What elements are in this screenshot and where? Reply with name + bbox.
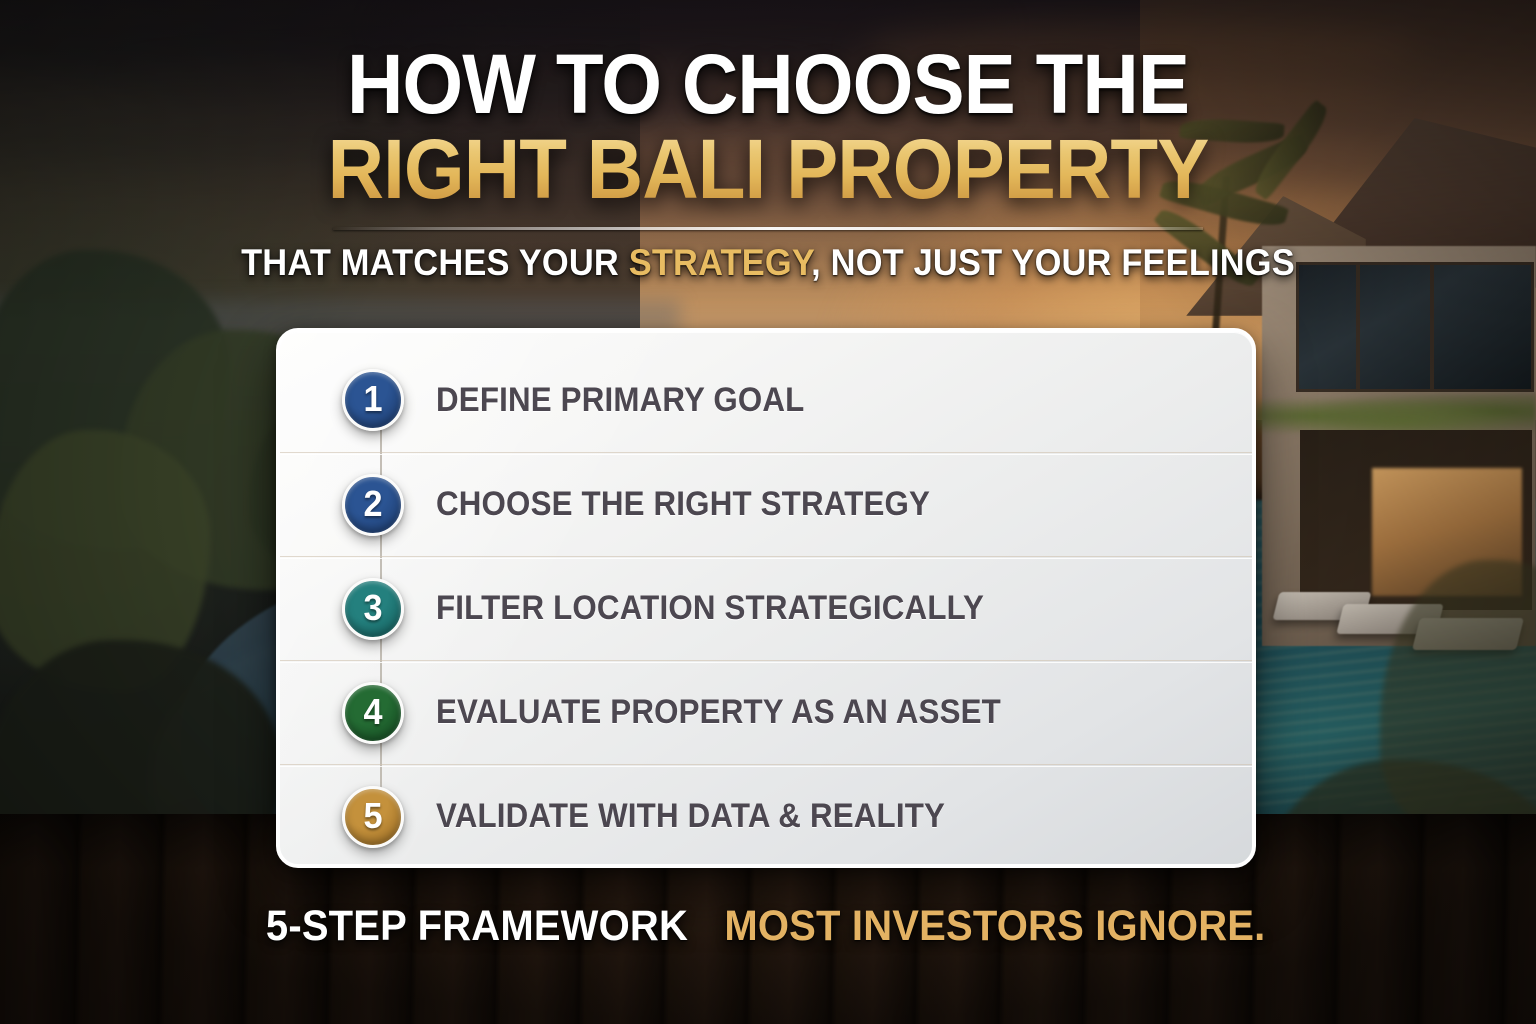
step-row[interactable]: 3FILTER LOCATION STRATEGICALLY: [280, 556, 1252, 660]
steps-card: 1DEFINE PRIMARY GOAL2CHOOSE THE RIGHT ST…: [276, 328, 1256, 868]
subtitle-text-post: , NOT JUST YOUR FEELINGS: [811, 242, 1295, 283]
subtitle-text-pre: THAT MATCHES YOUR: [241, 242, 629, 283]
page-title-line-1: HOW TO CHOOSE THE: [54, 44, 1482, 125]
header: HOW TO CHOOSE THE RIGHT BALI PROPERTY TH…: [0, 44, 1536, 284]
step-row[interactable]: 4EVALUATE PROPERTY AS AN ASSET: [280, 660, 1252, 764]
title-divider-rule: [333, 227, 1203, 230]
step-number-badge: 1: [342, 369, 404, 431]
page-title-line-2: RIGHT BALI PROPERTY: [54, 127, 1482, 211]
step-number-badge: 2: [342, 474, 404, 536]
footer-text-gold: MOST INVESTORS IGNORE.: [724, 902, 1265, 951]
step-row[interactable]: 1DEFINE PRIMARY GOAL: [280, 348, 1252, 452]
step-label: EVALUATE PROPERTY AS AN ASSET: [436, 693, 1001, 732]
step-number: 5: [363, 798, 382, 834]
step-number-badge: 4: [342, 682, 404, 744]
footer-text-white: 5-STEP FRAMEWORK: [266, 902, 688, 951]
step-number: 3: [363, 590, 382, 626]
step-number: 4: [363, 694, 382, 730]
step-label: DEFINE PRIMARY GOAL: [436, 381, 804, 420]
step-number: 1: [363, 381, 382, 417]
step-number-badge: 3: [342, 578, 404, 640]
step-row[interactable]: 5VALIDATE WITH DATA & REALITY: [280, 764, 1252, 868]
step-label: FILTER LOCATION STRATEGICALLY: [436, 589, 984, 628]
step-label: CHOOSE THE RIGHT STRATEGY: [436, 485, 930, 524]
step-number: 2: [363, 486, 382, 522]
page-subtitle: THAT MATCHES YOUR STRATEGY, NOT JUST YOU…: [54, 242, 1482, 284]
footer-caption: 5-STEP FRAMEWORK MOST INVESTORS IGNORE.: [0, 902, 1536, 951]
steps-list: 1DEFINE PRIMARY GOAL2CHOOSE THE RIGHT ST…: [280, 332, 1252, 868]
step-row[interactable]: 2CHOOSE THE RIGHT STRATEGY: [280, 452, 1252, 556]
step-label: VALIDATE WITH DATA & REALITY: [436, 797, 945, 836]
step-number-badge: 5: [342, 786, 404, 848]
subtitle-text-highlight: STRATEGY: [629, 242, 811, 283]
